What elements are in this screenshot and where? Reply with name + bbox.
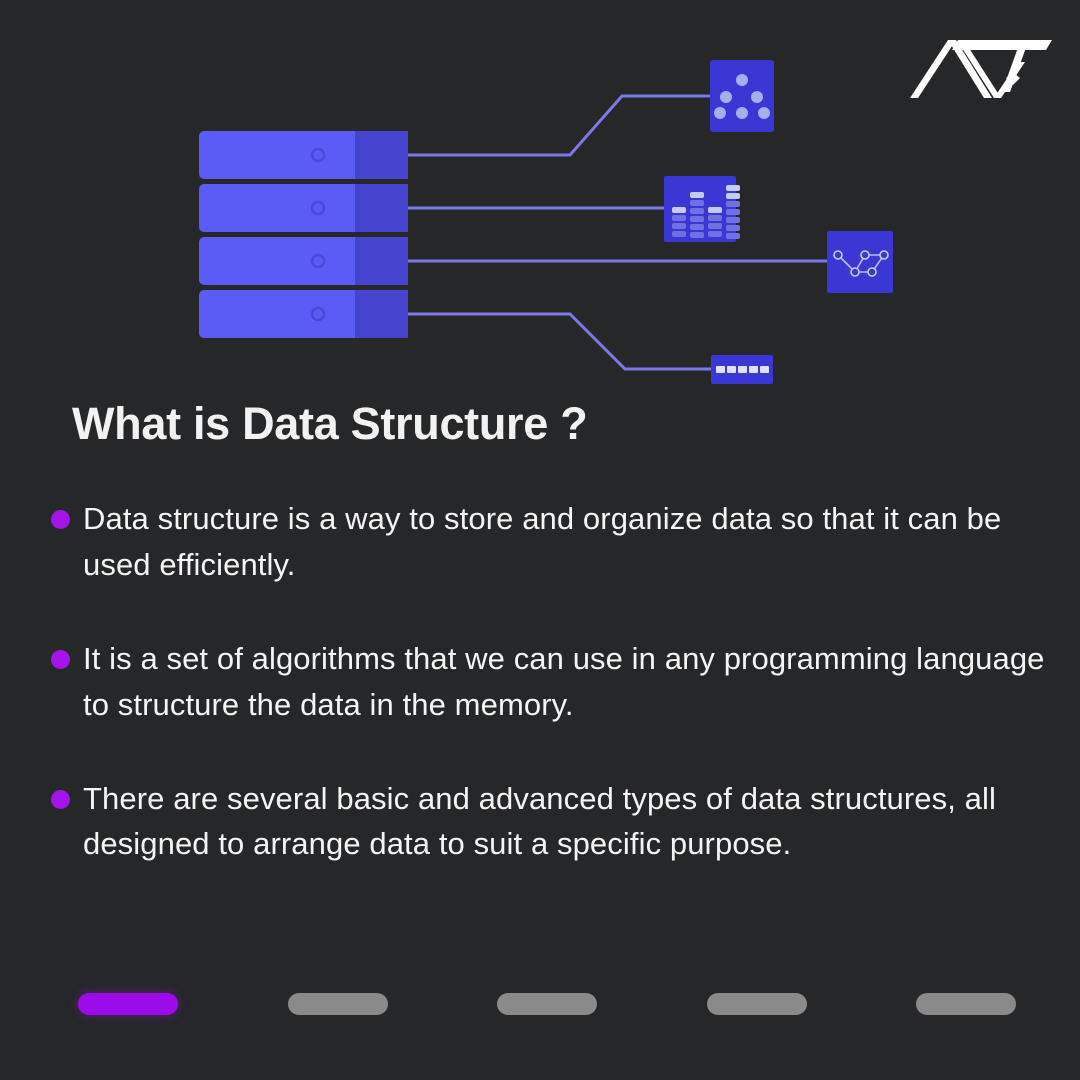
- connector-to-array: [408, 314, 712, 369]
- hero-illustration: [0, 0, 1080, 400]
- stack-chart-icon: [664, 176, 740, 242]
- page-indicator-1[interactable]: [78, 993, 178, 1015]
- bullet-text: It is a set of algorithms that we can us…: [83, 636, 1060, 728]
- page-indicator-2[interactable]: [288, 993, 388, 1015]
- slide-canvas: What is Data Structure ? Data structure …: [0, 0, 1080, 1080]
- page-indicator-5[interactable]: [916, 993, 1016, 1015]
- list-item: It is a set of algorithms that we can us…: [50, 636, 1060, 728]
- bullet-dot-icon: [51, 510, 70, 529]
- connector-lines: [408, 96, 828, 369]
- server-stack: [199, 131, 408, 338]
- bullet-text: There are several basic and advanced typ…: [83, 776, 1060, 868]
- server-slab-2: [199, 184, 408, 232]
- bullet-dot-icon: [51, 790, 70, 809]
- page-indicator-3[interactable]: [497, 993, 597, 1015]
- list-item: Data structure is a way to store and org…: [50, 496, 1060, 588]
- page-indicator-4[interactable]: [707, 993, 807, 1015]
- server-slab-1: [199, 131, 408, 179]
- bullet-dot-icon: [51, 650, 70, 669]
- server-slab-4: [199, 290, 408, 338]
- server-slab-3: [199, 237, 408, 285]
- graph-network-icon: [827, 231, 893, 293]
- slide-pagination: [78, 993, 1016, 1015]
- list-item: There are several basic and advanced typ…: [50, 776, 1060, 868]
- bullet-text: Data structure is a way to store and org…: [83, 496, 1060, 588]
- page-title: What is Data Structure ?: [72, 398, 587, 450]
- tree-structure-icon: [710, 60, 774, 132]
- connector-to-tree: [408, 96, 712, 155]
- bullet-list: Data structure is a way to store and org…: [50, 496, 1060, 867]
- array-list-icon: [711, 355, 773, 384]
